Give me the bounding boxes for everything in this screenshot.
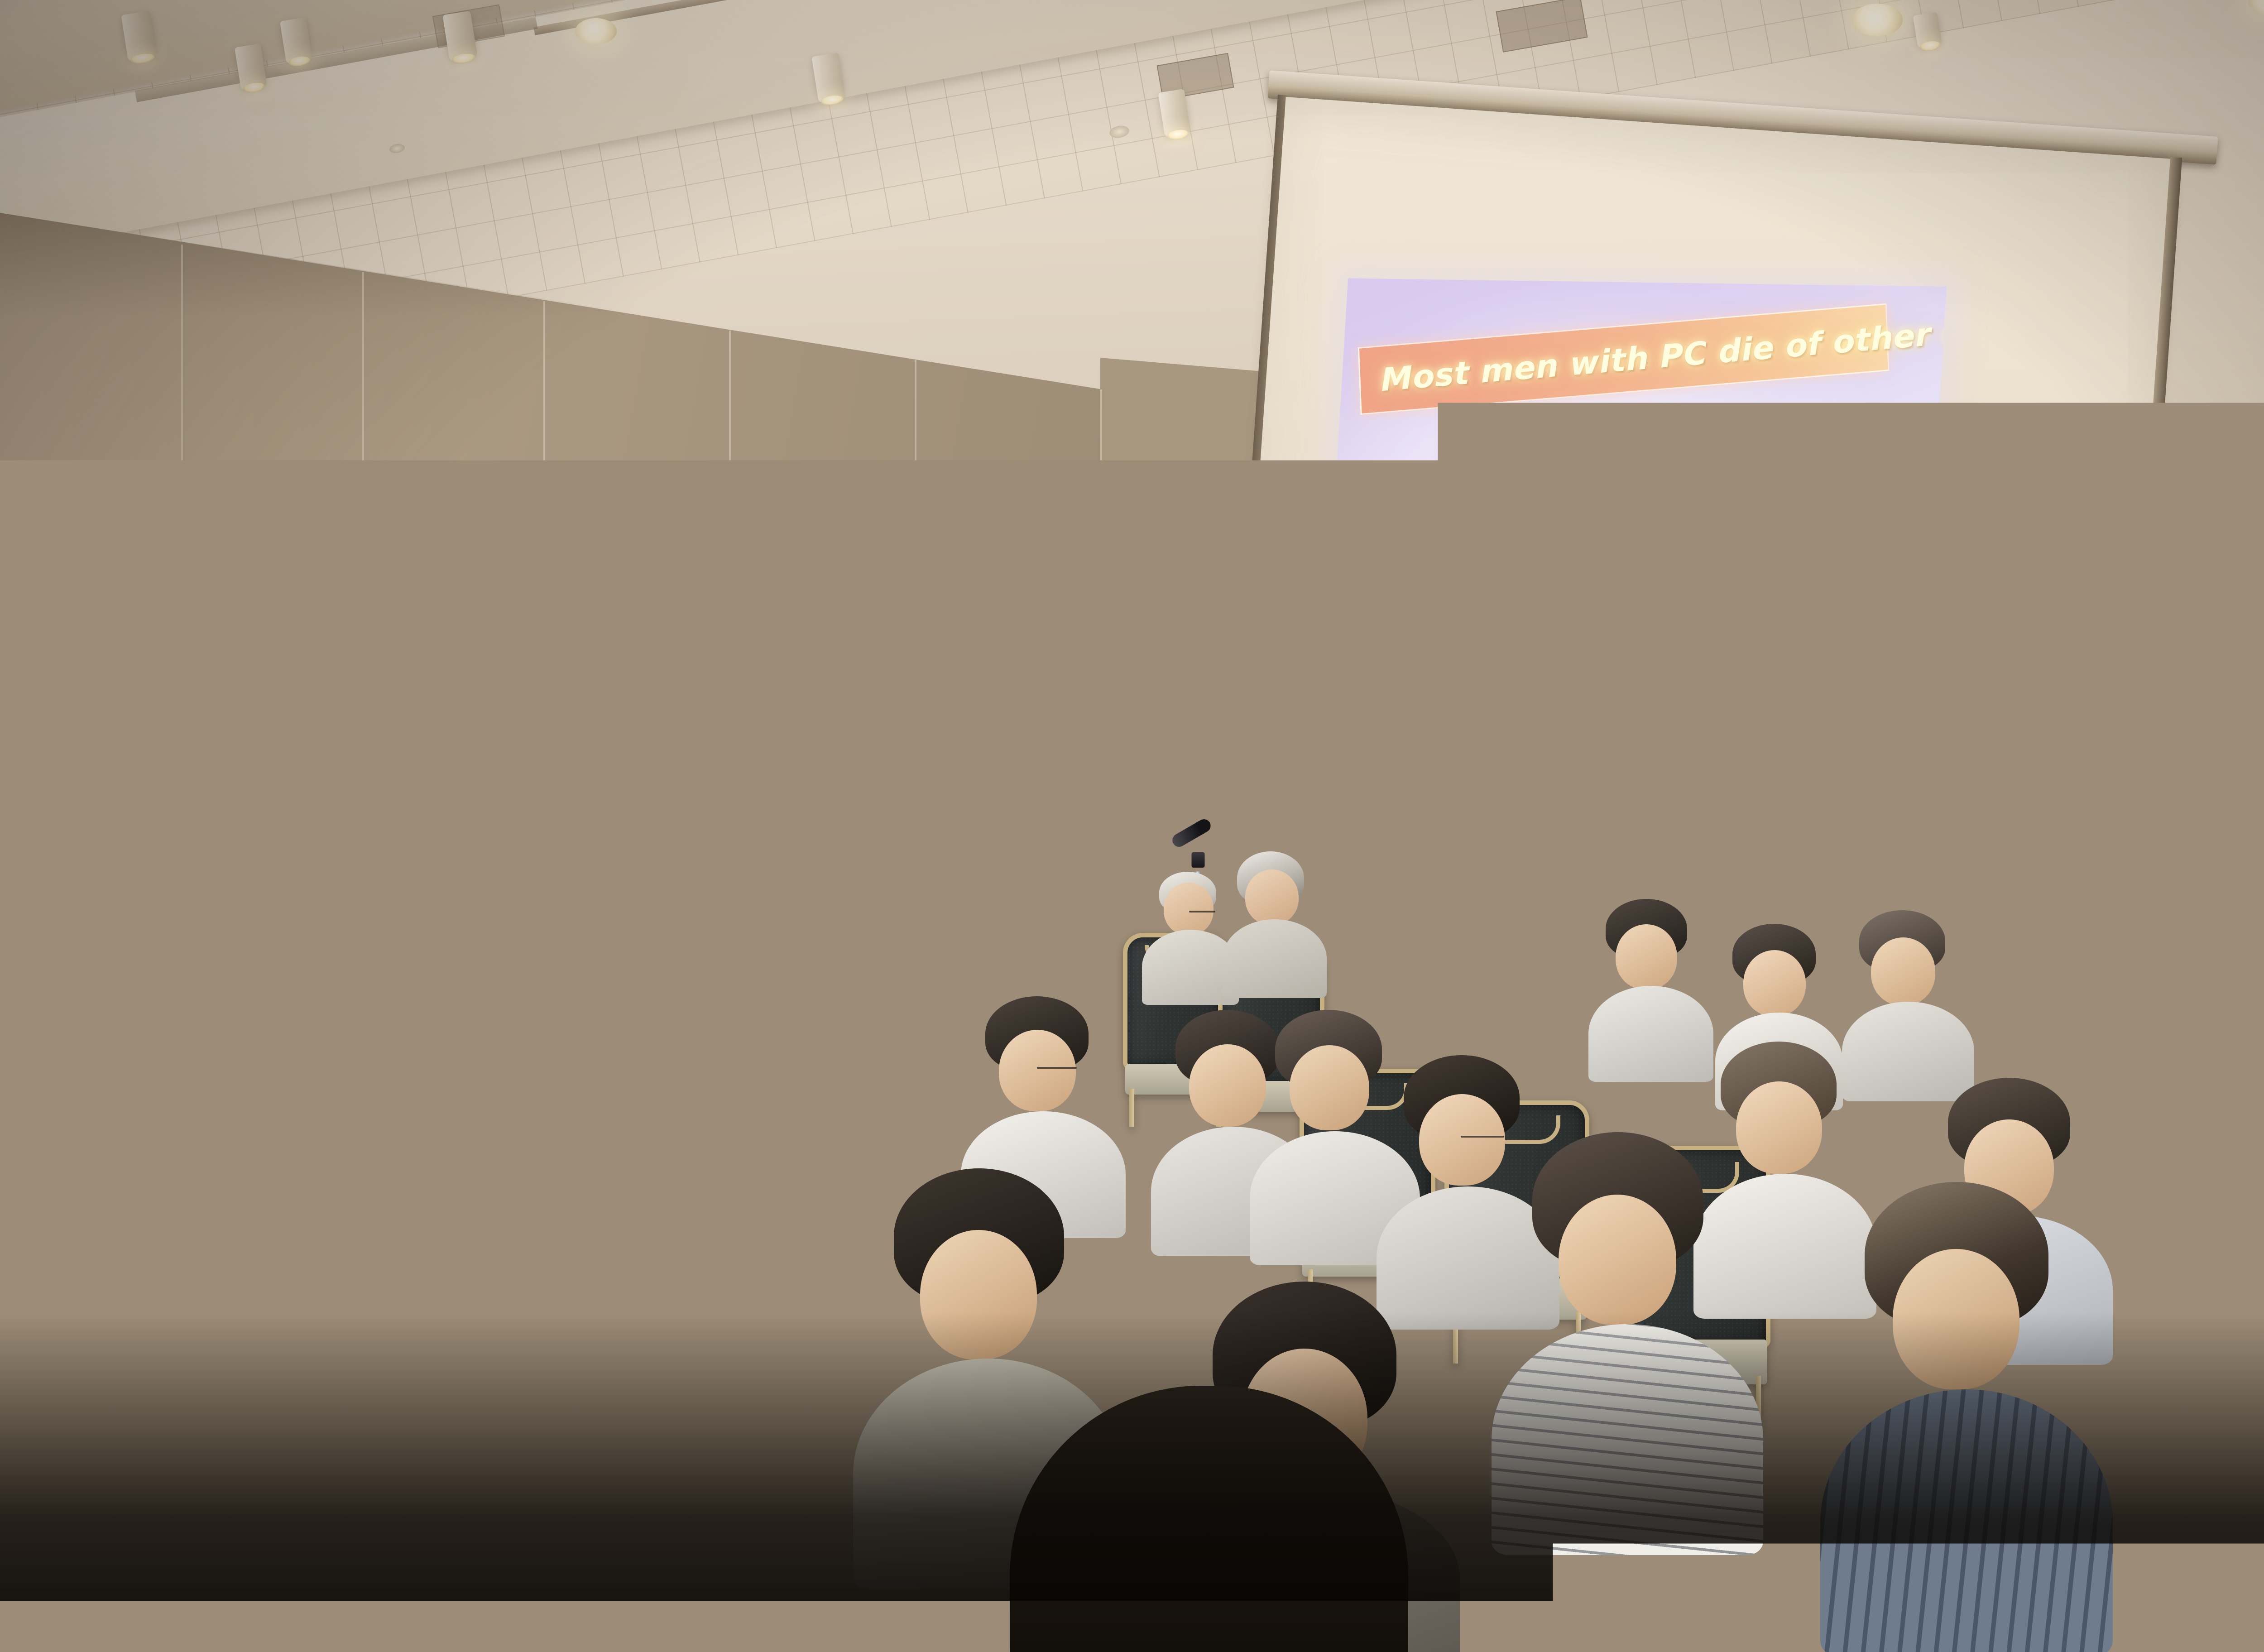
lecture-hall-photograph: Most men with PC die of other causes Lif…	[0, 0, 2264, 1652]
ceiling-downlight	[575, 18, 617, 44]
audience-member	[1594, 899, 1707, 1080]
cylinder-light-fixture	[1913, 12, 1943, 49]
microphone-clamp	[1191, 852, 1204, 868]
projected-slide: Most men with PC die of other causes Lif…	[1318, 279, 1947, 802]
audience-member-in-striped-polo	[398, 933, 539, 1159]
blue-cap	[555, 810, 633, 849]
bullet-square-icon	[1334, 661, 1343, 669]
speaker-left-hand	[2200, 911, 2236, 944]
floor-shadow-gradient	[0, 1313, 2264, 1652]
audience-member	[213, 960, 349, 1177]
prev-arrow-icon[interactable]: ◀	[1341, 763, 1351, 775]
audience-member	[1014, 851, 1096, 987]
slide-bullet-1: Lifetime risk of PC for western men is 1…	[1346, 409, 1947, 538]
ceiling-downlight	[2248, 0, 2264, 16]
presentation-controls[interactable]: ◀ ✎ ▶	[1341, 759, 1409, 776]
audience-member	[1227, 851, 1318, 996]
projection-screen: Most men with PC die of other causes Lif…	[1229, 95, 2185, 971]
pen-icon[interactable]: ✎	[1360, 762, 1371, 774]
slide-bullet-2: 45% of men with a PSA-detected PCa are c…	[1334, 607, 1924, 744]
screen-surface: Most men with PC die of other causes Lif…	[1232, 97, 2171, 932]
face-mask	[72, 1141, 127, 1185]
menu-box-icon[interactable]	[1380, 762, 1390, 771]
next-arrow-icon[interactable]: ▶	[1399, 759, 1409, 771]
ceiling-downlight	[1852, 4, 1903, 36]
eyeglasses-icon	[2251, 782, 2264, 797]
audience-member	[1150, 872, 1227, 1003]
bullet-square-icon	[1428, 461, 1436, 470]
wall-panel-seam	[2194, 512, 2196, 1128]
microphone-clamp	[715, 822, 731, 840]
